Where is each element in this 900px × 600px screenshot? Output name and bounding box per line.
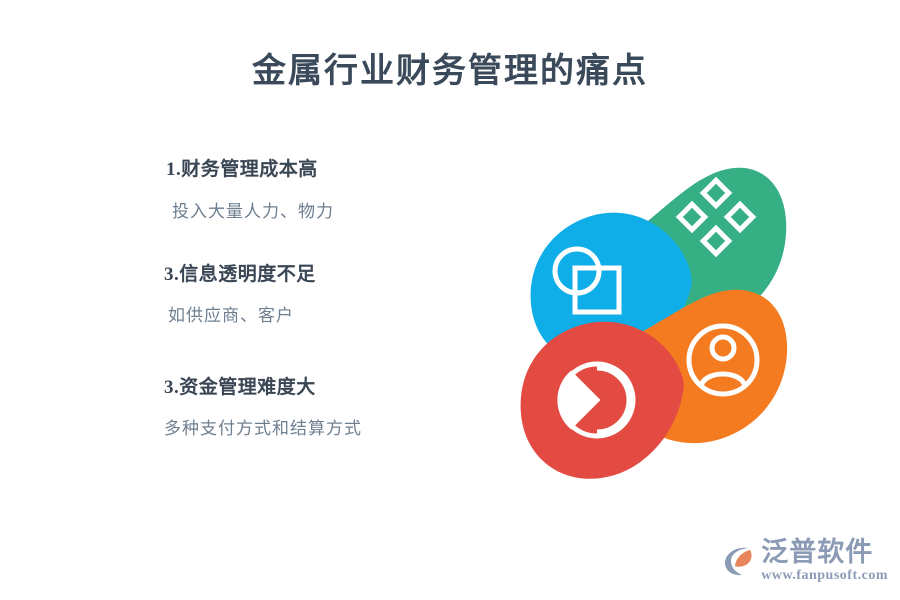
list-item: 3.信息透明度不足 如供应商、客户 bbox=[150, 263, 470, 328]
page-title: 金属行业财务管理的痛点 bbox=[0, 52, 900, 93]
pain-point-heading: 1.财务管理成本高 bbox=[166, 158, 470, 183]
brand-logo: 泛普软件 www.fanpusoft.com bbox=[723, 534, 888, 588]
logo-website-url: www.fanpusoft.com bbox=[761, 569, 888, 583]
logo-mark-icon bbox=[723, 544, 759, 578]
slide: 金属行业财务管理的痛点 1.财务管理成本高 投入大量人力、物力 3.信息透明度不… bbox=[0, 0, 900, 600]
pain-point-subtitle: 如供应商、客户 bbox=[168, 305, 470, 327]
list-item: 3.资金管理难度大 多种支付方式和结算方式 bbox=[150, 376, 470, 441]
four-petal-graphic bbox=[495, 148, 795, 488]
pain-point-heading: 3.资金管理难度大 bbox=[164, 376, 470, 401]
logo-text-block: 泛普软件 www.fanpusoft.com bbox=[761, 539, 888, 583]
logo-company-name: 泛普软件 bbox=[761, 539, 873, 566]
pain-point-heading: 3.信息透明度不足 bbox=[164, 263, 470, 288]
pain-point-list: 1.财务管理成本高 投入大量人力、物力 3.信息透明度不足 如供应商、客户 3.… bbox=[150, 158, 470, 440]
petal-red bbox=[521, 322, 684, 479]
pain-point-subtitle: 多种支付方式和结算方式 bbox=[164, 418, 470, 440]
list-item: 1.财务管理成本高 投入大量人力、物力 bbox=[150, 158, 470, 223]
pain-point-subtitle: 投入大量人力、物力 bbox=[172, 201, 470, 223]
